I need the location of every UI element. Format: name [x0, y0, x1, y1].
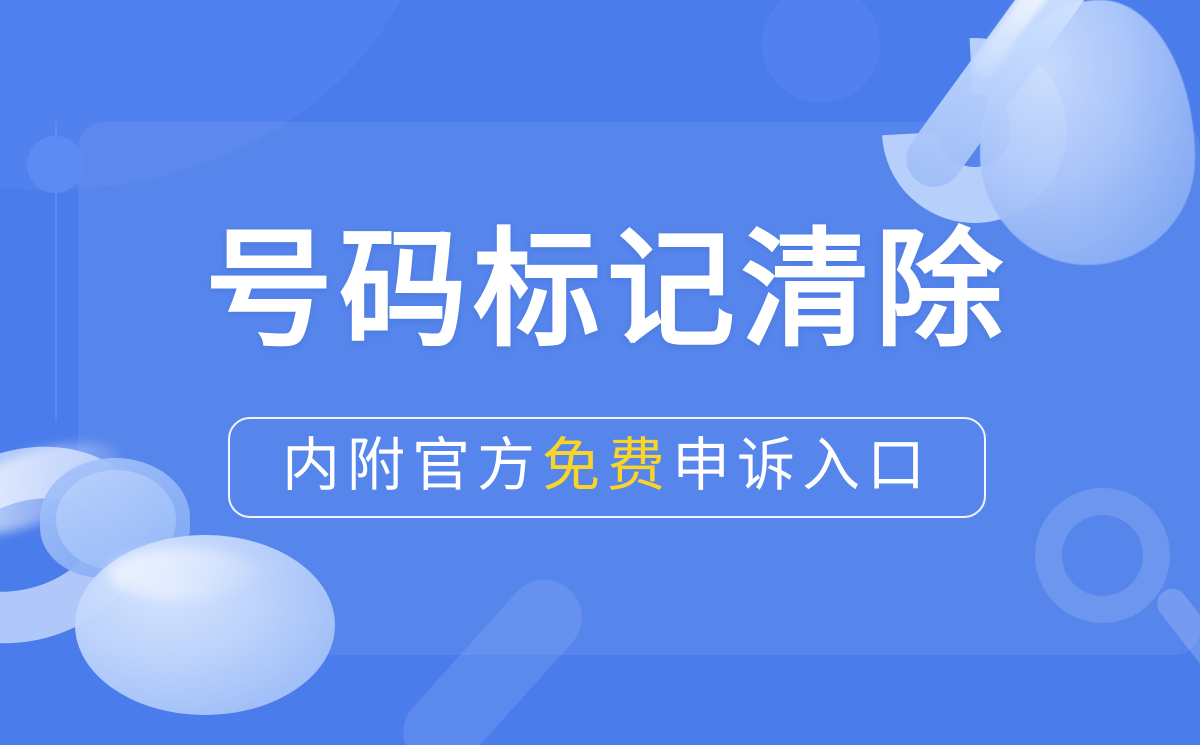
banner-headline: 号码标记清除 [205, 227, 1009, 355]
banner-subtitle: 内附官方 免费 申诉入口 [282, 434, 932, 499]
subtitle-text-after: 申诉入口 [672, 434, 932, 499]
subtitle-outline-box: 内附官方 免费 申诉入口 [228, 417, 986, 519]
banner-content: 号码标记清除 内附官方 免费 申诉入口 [0, 0, 1200, 745]
subtitle-text-highlight: 免费 [542, 434, 672, 499]
promo-banner: 号码标记清除 内附官方 免费 申诉入口 [0, 0, 1200, 745]
subtitle-text-before: 内附官方 [282, 434, 542, 499]
